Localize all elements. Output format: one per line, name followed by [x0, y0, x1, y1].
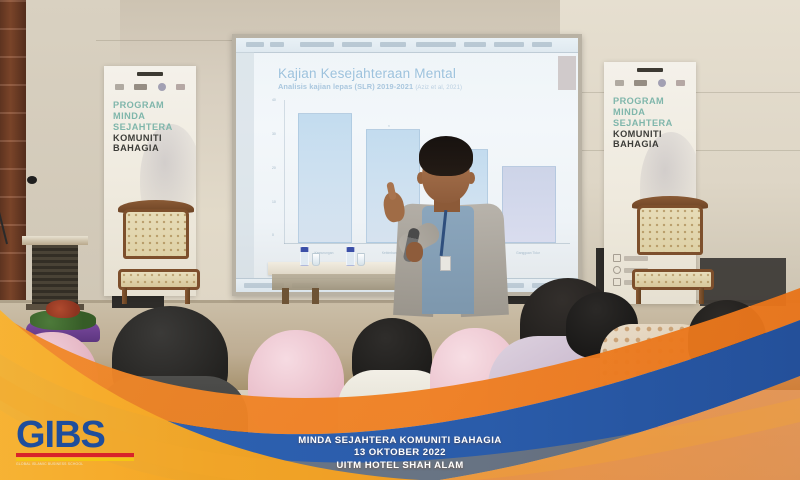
banner-line-2: MINDA	[613, 107, 673, 118]
microphone-icon	[27, 176, 37, 184]
water-bottle	[300, 246, 309, 266]
banner-line-5: BAHAGIA	[113, 143, 173, 154]
wall-seam	[96, 40, 236, 41]
water-bottle	[346, 246, 355, 266]
banner-headline: PROGRAM MINDA SEJAHTERA KOMUNITI BAHAGIA	[113, 100, 173, 154]
drinking-glass	[357, 253, 365, 266]
slide-subtitle: Analisis kajian lepas (SLR) 2019-2021 (A…	[278, 82, 568, 91]
photo-banner: Kajian Kesejahteraan Mental Analisis kaj…	[0, 0, 800, 480]
chart-annotation: n	[388, 124, 390, 128]
banner-logo-row	[610, 78, 690, 88]
partner-logo-icon	[615, 80, 624, 86]
partner-logo-icon	[176, 84, 185, 90]
chart-y-tick: 10	[272, 200, 276, 204]
banner-top-bar	[137, 72, 163, 76]
chart-y-axis	[284, 100, 285, 244]
name-badge	[440, 256, 451, 271]
hand-holding-mic	[406, 242, 423, 262]
gibs-logo-icon	[634, 80, 647, 86]
banner-line-1: PROGRAM	[113, 100, 173, 111]
hair	[419, 136, 473, 176]
powerpoint-ribbon	[236, 38, 578, 53]
banner-logo-row	[110, 82, 190, 92]
banner-headline: PROGRAM MINDA SEJAHTERA KOMUNITI BAHAGIA	[613, 96, 673, 150]
banner-line-5: BAHAGIA	[613, 139, 673, 150]
partner-logo-icon	[676, 80, 685, 86]
caption-line-2: 13 OKTOBER 2022	[0, 447, 800, 459]
slide-thumbnail-rail	[236, 52, 254, 278]
chart-bar	[298, 113, 352, 243]
chair-backrest	[637, 205, 703, 255]
gibs-logo-icon	[134, 84, 147, 90]
banner-line-4: KOMUNITI	[113, 133, 173, 144]
banner-line-3: SEJAHTERA	[113, 122, 173, 133]
university-seal-icon	[658, 79, 666, 87]
university-seal-icon	[158, 83, 166, 91]
clock-icon	[613, 266, 621, 274]
chart-y-tick: 30	[272, 132, 276, 136]
caption-line-3: UITM HOTEL SHAH ALAM	[0, 460, 800, 472]
calendar-icon	[613, 254, 621, 262]
podium-top	[22, 236, 88, 245]
banner-line-1: PROGRAM	[613, 96, 673, 107]
caption-line-1: MINDA SEJAHTERA KOMUNITI BAHAGIA	[0, 435, 800, 447]
banner-top-bar	[637, 68, 663, 72]
partner-logo-icon	[115, 84, 124, 90]
chair-backrest	[123, 209, 189, 259]
chart-y-tick: 40	[272, 98, 276, 102]
slide-title: Kajian Kesejahteraan Mental	[278, 66, 558, 81]
banner-line-4: KOMUNITI	[613, 129, 673, 140]
banner-line-2: MINDA	[113, 111, 173, 122]
banner-line-3: SEJAHTERA	[613, 118, 673, 129]
slide-subtitle-main: Analisis kajian lepas (SLR) 2019-2021	[278, 82, 413, 91]
chart-y-tick: 0	[272, 233, 274, 237]
event-caption: MINDA SEJAHTERA KOMUNITI BAHAGIA 13 OKTO…	[0, 435, 800, 472]
slide-subtitle-citation: (Aziz et al, 2021)	[415, 85, 462, 91]
drinking-glass	[312, 253, 320, 266]
chart-y-tick: 20	[272, 166, 276, 170]
